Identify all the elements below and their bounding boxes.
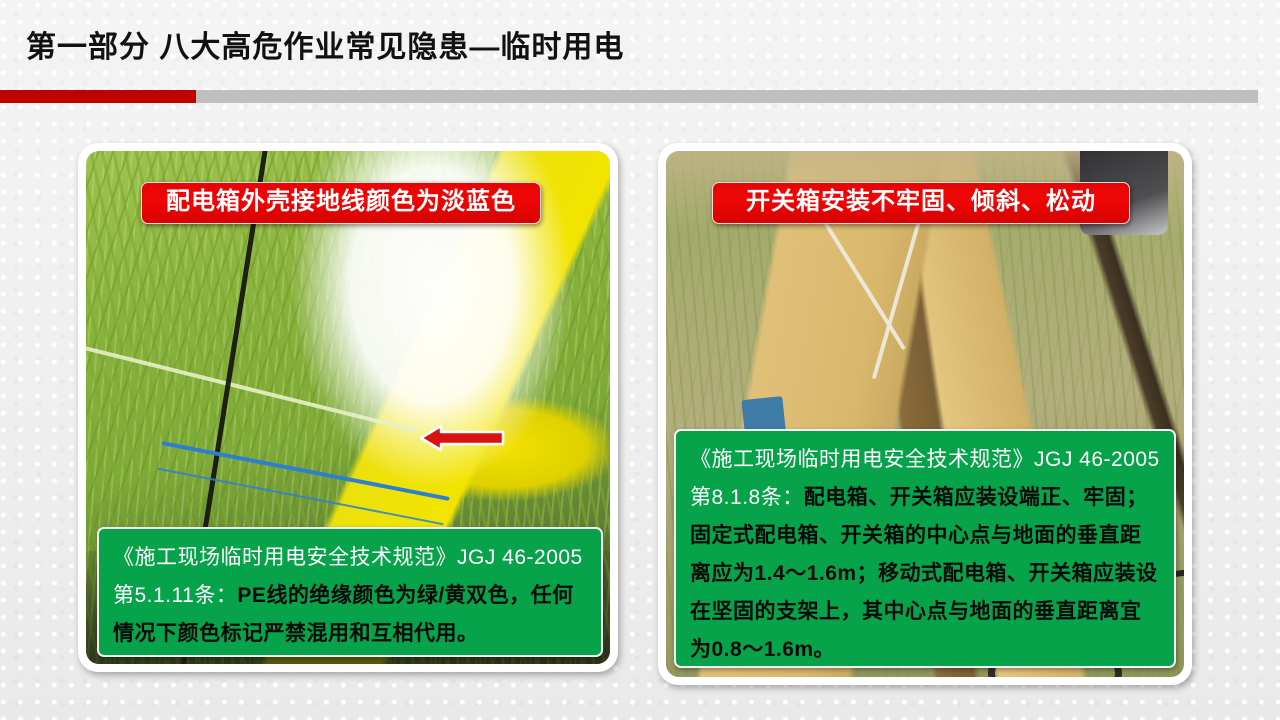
page-title: 第一部分 八大高危作业常见隐患—临时用电 [26,28,624,68]
left-arrow-icon [419,424,505,452]
caption-banner-left: 配电箱外壳接地线颜色为淡蓝色 [141,182,541,224]
rope-strand [86,345,417,433]
slide-canvas: 第一部分 八大高危作业常见隐患—临时用电 配电箱外壳接地线颜色为淡蓝色 《施工现… [0,0,1280,720]
regulation-clause-right: 配电箱、开关箱应装设端正、牢固；固定式配电箱、开关箱的中心点与地面的垂直距离应为… [690,486,1158,661]
regulation-box-left: 《施工现场临时用电安全技术规范》JGJ 46-2005 第5.1.11条：PE线… [97,527,603,657]
caption-banner-right: 开关箱安装不牢固、倾斜、松动 [712,182,1130,224]
title-rule-bar [0,90,1258,103]
regulation-box-right: 《施工现场临时用电安全技术规范》JGJ 46-2005 第8.1.8条：配电箱、… [674,429,1176,668]
rule-bar-grey-segment [196,90,1258,103]
blue-earth-wire [162,441,451,501]
rule-bar-red-segment [0,90,196,103]
